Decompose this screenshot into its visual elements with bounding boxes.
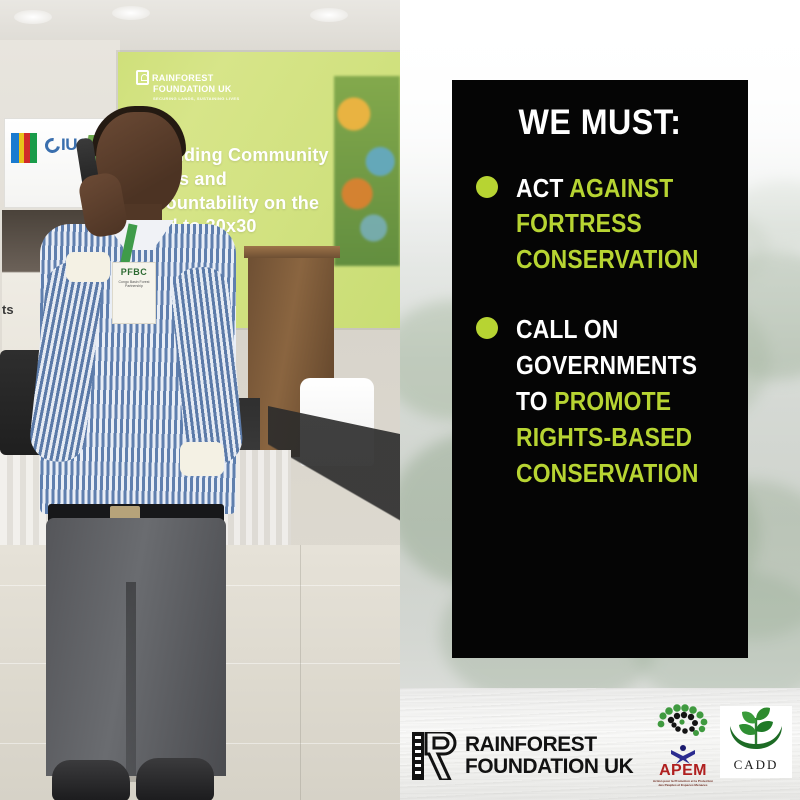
apem-person-icon xyxy=(668,744,698,764)
ceiling-light xyxy=(310,8,348,22)
leg-separation xyxy=(126,582,136,782)
panel-title: WE MUST: xyxy=(477,104,724,143)
bullet-dot-icon xyxy=(476,176,498,198)
speaker-photo: RAINFOREST FOUNDATION UK SECURING LANDS,… xyxy=(0,0,400,800)
trousers xyxy=(46,518,226,776)
rfuk-line2: FOUNDATION UK xyxy=(465,756,633,778)
shoe xyxy=(52,760,130,800)
bullet-dot-icon xyxy=(476,317,498,339)
list-item: CALL ON GOVERNMENTS TO PROMOTE RIGHTS-BA… xyxy=(466,312,734,491)
bullet-segment-white: ACT xyxy=(516,173,569,203)
poster-canvas: RAINFOREST FOUNDATION UK SECURING LANDS,… xyxy=(0,0,800,800)
slide-logo-tagline: SECURING LANDS, SUSTAINING LIVES xyxy=(153,96,239,101)
cadd-logo: CADD xyxy=(720,706,792,778)
rainforest-foundation-logo: RAINFOREST FOUNDATION UK xyxy=(412,732,639,780)
shirt-cuff xyxy=(66,252,110,282)
podium-top xyxy=(244,246,340,258)
shoe xyxy=(136,758,214,800)
badge-sub: Congo Basin Forest Partnership xyxy=(113,280,155,288)
bullet-text: CALL ON GOVERNMENTS TO PROMOTE RIGHTS-BA… xyxy=(516,312,708,491)
apem-logo: APEM Action pour la Promotion et la Prot… xyxy=(650,704,716,778)
rfuk-monogram-icon xyxy=(136,70,149,85)
rfuk-line1: RAINFOREST xyxy=(465,734,633,756)
shirt-cuff xyxy=(180,442,224,476)
cadd-wordmark: CADD xyxy=(734,757,779,773)
cadd-plant-in-hands-icon xyxy=(726,706,786,757)
rfuk-r-monogram-icon xyxy=(412,732,458,780)
slide-rfuk-logo: RAINFOREST FOUNDATION UK SECURING LANDS,… xyxy=(136,70,239,101)
list-item: ACT AGAINST FORTRESS CONSERVATION xyxy=(466,171,734,279)
banner-text: ts xyxy=(2,302,14,317)
speaker-figure: PFBC Congo Basin Forest Partnership xyxy=(30,112,240,800)
footer-logo-bar: RAINFOREST FOUNDATION UK xyxy=(400,688,800,800)
apem-tree-swirl-icon xyxy=(651,704,715,744)
apem-subtitle: Action pour la Promotion et la Protectio… xyxy=(650,780,716,788)
slide-logo-line1: RAINFOREST xyxy=(152,73,214,83)
rfuk-wordmark: RAINFOREST FOUNDATION UK xyxy=(465,734,633,778)
bullet-list: ACT AGAINST FORTRESS CONSERVATION CALL O… xyxy=(466,171,734,492)
bullet-text: ACT AGAINST FORTRESS CONSERVATION xyxy=(516,171,708,279)
apem-wordmark: APEM xyxy=(650,763,716,779)
badge-org: PFBC xyxy=(113,267,155,277)
ceiling-light xyxy=(14,10,52,24)
quote-panel: WE MUST: ACT AGAINST FORTRESS CONSERVATI… xyxy=(452,80,748,658)
conference-badge: PFBC Congo Basin Forest Partnership xyxy=(112,262,156,324)
slide-logo-line2: FOUNDATION UK xyxy=(153,85,239,94)
ceiling-light xyxy=(112,6,150,20)
